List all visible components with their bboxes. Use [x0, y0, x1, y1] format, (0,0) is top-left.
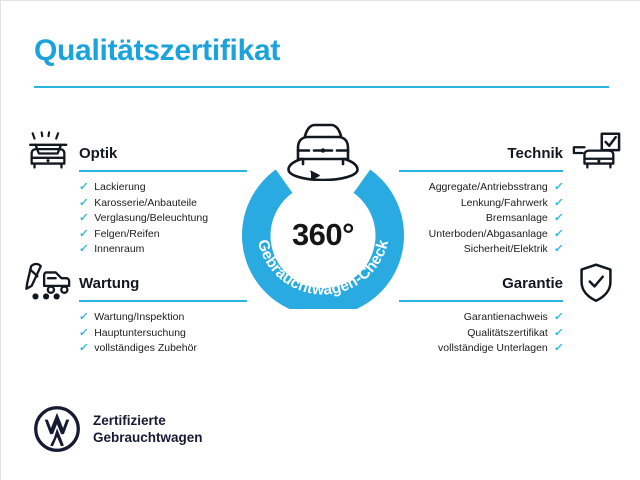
certificate-page: Qualitätszertifikat Optik ✓Lackierung ✓K…	[0, 0, 640, 480]
car-shine-icon	[23, 132, 73, 174]
car-checkbox-icon	[571, 132, 621, 174]
check-icon: ✓	[553, 341, 564, 357]
section-wartung-divider	[79, 300, 247, 302]
header-divider	[34, 86, 609, 88]
list-item-label: Karosserie/Anbauteile	[94, 196, 197, 212]
vw-logo	[34, 406, 80, 452]
section-optik-header: Optik	[23, 132, 248, 177]
section-wartung-header: Wartung	[23, 262, 248, 307]
section-garantie: Garantie Garantienachweis✓ Qualitätszert…	[399, 262, 621, 307]
list-item: Unterboden/Abgasanlage✓	[429, 227, 563, 243]
check-icon: ✓	[78, 326, 89, 342]
list-item: Qualitätszertifikat✓	[438, 326, 563, 342]
check-icon: ✓	[78, 211, 89, 227]
list-item: ✓Verglasung/Beleuchtung	[79, 211, 208, 227]
check-icon: ✓	[553, 310, 564, 326]
page-title: Qualitätszertifikat	[34, 34, 280, 67]
list-item: vollständige Unterlagen✓	[438, 341, 563, 357]
list-item: ✓Karosserie/Anbauteile	[79, 196, 208, 212]
check-icon: ✓	[78, 242, 89, 258]
check-icon: ✓	[78, 196, 89, 212]
list-item-label: Unterboden/Abgasanlage	[429, 227, 548, 243]
section-technik-list: Aggregate/Antriebsstrang✓ Lenkung/Fahrwe…	[429, 180, 563, 258]
section-garantie-header: Garantie	[399, 262, 621, 307]
check-icon: ✓	[78, 341, 89, 357]
vw-footer-line1: Zertifizierte	[93, 412, 203, 429]
list-item: Bremsanlage✓	[429, 211, 563, 227]
list-item-label: Bremsanlage	[486, 211, 548, 227]
section-optik-title: Optik	[79, 145, 117, 162]
section-technik-title: Technik	[507, 145, 563, 162]
section-garantie-list: Garantienachweis✓ Qualitätszertifikat✓ v…	[438, 310, 563, 357]
wrench-car-icon	[23, 262, 73, 304]
check-icon: ✓	[553, 180, 564, 196]
shield-check-icon	[571, 262, 621, 304]
section-technik-divider	[399, 170, 563, 172]
check-icon: ✓	[553, 227, 564, 243]
section-garantie-divider	[399, 300, 563, 302]
section-optik-divider	[79, 170, 247, 172]
vw-footer-line2: Gebrauchtwagen	[93, 429, 203, 446]
list-item: ✓Lackierung	[79, 180, 208, 196]
list-item-label: Verglasung/Beleuchtung	[94, 211, 208, 227]
list-item-label: Garantienachweis	[464, 310, 548, 326]
car-rotate-icon	[281, 119, 365, 181]
check-icon: ✓	[553, 242, 564, 258]
list-item: Lenkung/Fahrwerk✓	[429, 196, 563, 212]
list-item-label: Lenkung/Fahrwerk	[461, 196, 548, 212]
check-icon: ✓	[553, 196, 564, 212]
badge-360-gebrauchtwagen-check: Gebrauchtwagen-Check 360°	[229, 119, 417, 309]
section-optik: Optik ✓Lackierung ✓Karosserie/Anbauteile…	[23, 132, 248, 177]
list-item-label: Lackierung	[94, 180, 145, 196]
section-optik-list: ✓Lackierung ✓Karosserie/Anbauteile ✓Verg…	[79, 180, 208, 258]
list-item-label: Hauptuntersuchung	[94, 326, 186, 342]
check-icon: ✓	[553, 211, 564, 227]
list-item-label: Wartung/Inspektion	[94, 310, 184, 326]
list-item-label: Aggregate/Antriebsstrang	[429, 180, 548, 196]
list-item-label: Sicherheit/Elektrik	[464, 242, 548, 258]
check-icon: ✓	[78, 180, 89, 196]
check-icon: ✓	[78, 310, 89, 326]
vw-footer: Zertifizierte Gebrauchtwagen	[34, 406, 203, 452]
list-item-label: Felgen/Reifen	[94, 227, 159, 243]
list-item: Garantienachweis✓	[438, 310, 563, 326]
list-item-label: vollständige Unterlagen	[438, 341, 548, 357]
list-item: ✓Innenraum	[79, 242, 208, 258]
check-icon: ✓	[553, 326, 564, 342]
section-technik: Technik Aggregate/Antriebsstrang✓ Lenkun…	[399, 132, 621, 177]
vw-footer-text: Zertifizierte Gebrauchtwagen	[93, 412, 203, 446]
section-wartung: Wartung ✓Wartung/Inspektion ✓Hauptunters…	[23, 262, 248, 307]
list-item-label: Qualitätszertifikat	[467, 326, 548, 342]
list-item: Sicherheit/Elektrik✓	[429, 242, 563, 258]
section-garantie-title: Garantie	[502, 275, 563, 292]
list-item: ✓vollständiges Zubehör	[79, 341, 197, 357]
badge-value: 360°	[229, 217, 417, 253]
list-item-label: Innenraum	[94, 242, 144, 258]
list-item: ✓Wartung/Inspektion	[79, 310, 197, 326]
section-wartung-list: ✓Wartung/Inspektion ✓Hauptuntersuchung ✓…	[79, 310, 197, 357]
check-icon: ✓	[78, 227, 89, 243]
section-technik-header: Technik	[399, 132, 621, 177]
list-item-label: vollständiges Zubehör	[94, 341, 197, 357]
list-item: Aggregate/Antriebsstrang✓	[429, 180, 563, 196]
list-item: ✓Hauptuntersuchung	[79, 326, 197, 342]
section-wartung-title: Wartung	[79, 275, 139, 292]
list-item: ✓Felgen/Reifen	[79, 227, 208, 243]
